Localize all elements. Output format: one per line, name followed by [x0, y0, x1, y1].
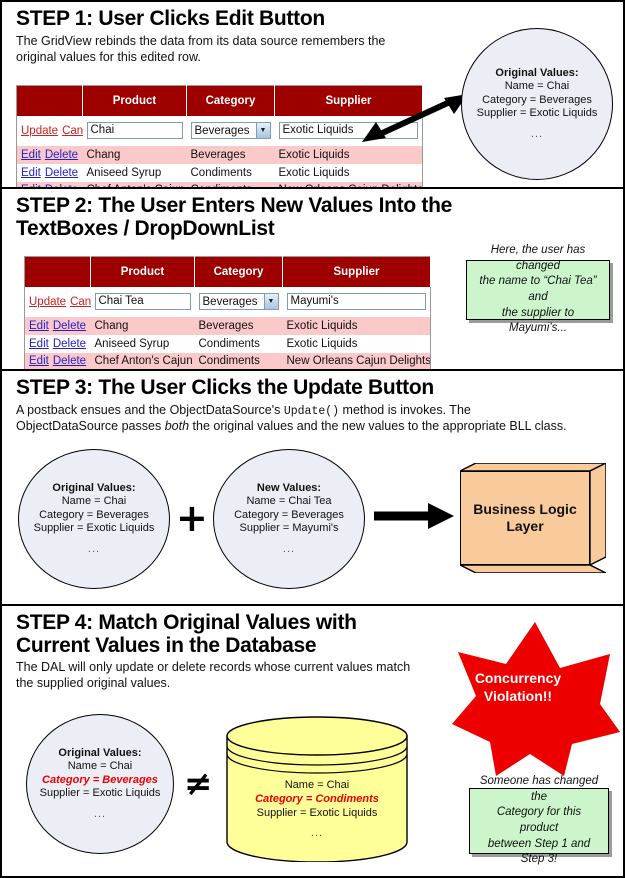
edit-row-commands: UpdateCancel [25, 287, 91, 317]
database-values-text: Name = Chai Category = Condiments Suppli… [232, 779, 402, 841]
star-line-2: Violation!! [484, 688, 552, 704]
step-3-section: STEP 3: The User Clicks the Update Butto… [2, 371, 623, 606]
table-row: EditDelete Chef Anton's Cajun Condiments… [17, 182, 423, 190]
step-4-callout-line-2: Category for this product [497, 806, 581, 834]
row-commands: EditDelete [17, 146, 83, 164]
original-values-ellipsis: ... [34, 543, 155, 556]
original-values-category: Category = Beverages [39, 509, 149, 521]
bidirectional-arrow-icon [360, 90, 470, 146]
row-category: Condiments [187, 164, 275, 182]
business-logic-layer-box: Business LogicLayer [460, 463, 610, 579]
original-values-heading: Original Values: [495, 67, 578, 79]
original-values-supplier: Supplier = Exotic Liquids [34, 522, 155, 534]
category-dropdownlist-value: Beverages [195, 125, 250, 137]
cancel-link[interactable]: Cancel [70, 296, 90, 308]
row-category: Beverages [195, 317, 283, 335]
original-values-name: Name = Chai [62, 495, 127, 507]
original-values-heading: Original Values: [52, 482, 135, 494]
row-product: Aniseed Syrup [83, 164, 187, 182]
diagram-page: STEP 1: User Clicks Edit Button The Grid… [0, 0, 625, 878]
delete-link[interactable]: Delete [45, 149, 78, 161]
step-4-desc-line-1: The DAL will only update or delete recor… [16, 660, 410, 674]
table-row: EditDelete Chef Anton's Cajun Condiments… [25, 353, 431, 371]
product-textbox[interactable]: Chai Tea [95, 293, 191, 310]
row-commands: EditDelete [17, 182, 83, 190]
edit-row-product-cell: Chai [83, 116, 187, 146]
step-2-title-line-2: TextBoxes / DropDownList [16, 217, 274, 240]
step-4-desc-line-2: the supplied original values. [16, 676, 170, 690]
plus-icon: + [176, 499, 208, 537]
row-category: Condiments [195, 353, 283, 371]
bll-line-1: Business Logic [473, 501, 576, 517]
header-product[interactable]: Product [91, 257, 195, 287]
database-supplier: Supplier = Exotic Liquids [257, 807, 378, 819]
original-values-heading: Original Values: [58, 747, 141, 759]
row-commands: EditDelete [25, 335, 91, 353]
step-4-title-line-1: STEP 4: Match Original Values with [16, 611, 357, 634]
step-2-callout-text: Here, the user has changed the name to “… [467, 243, 609, 336]
bll-line-2: Layer [506, 518, 543, 534]
step-4-callout-text: Someone has changed the Category for thi… [470, 774, 608, 867]
row-category: Condiments [195, 335, 283, 353]
step-3-original-values-text: Original Values: Name = Chai Category = … [34, 482, 155, 556]
concurrency-violation-label: Concurrency Violation!! [448, 670, 588, 705]
edit-row-commands: UpdateCancel [17, 116, 83, 146]
database-name: Name = Chai [285, 779, 350, 791]
database-ellipsis: ... [232, 827, 402, 841]
table-header-row: Product Category Supplier [25, 257, 431, 287]
category-dropdownlist[interactable]: Beverages ▼ [191, 122, 271, 139]
step-3-original-values-oval: Original Values: Name = Chai Category = … [18, 449, 170, 589]
original-values-circle: Original Values: Name = Chai Category = … [461, 28, 613, 180]
step-2-section: STEP 2: The User Enters New Values Into … [2, 189, 623, 371]
original-values-name: Name = Chai [505, 80, 570, 92]
step-3-desc-italic: both [165, 419, 189, 433]
step-1-desc-line-1: The GridView rebinds the data from its d… [16, 34, 385, 48]
step-3-new-values-text: New Values: Name = Chai Tea Category = B… [234, 482, 344, 556]
row-supplier: Exotic Liquids [275, 146, 423, 164]
row-product: Chef Anton's Cajun [83, 182, 187, 190]
row-commands: EditDelete [25, 317, 91, 335]
category-dropdownlist-value: Beverages [203, 296, 258, 308]
step-3-description: A postback ensues and the ObjectDataSour… [2, 402, 612, 435]
row-supplier: Exotic Liquids [283, 335, 431, 353]
header-category[interactable]: Category [187, 86, 275, 116]
step-3-desc-a: A postback ensues and the ObjectDataSour… [16, 403, 284, 417]
row-category: Condiments [187, 182, 275, 190]
edit-link[interactable]: Edit [29, 320, 49, 332]
supplier-textbox[interactable]: Mayumi's [287, 293, 427, 310]
row-supplier: Exotic Liquids [275, 164, 423, 182]
new-values-ellipsis: ... [234, 543, 344, 556]
business-logic-layer-label: Business LogicLayer [473, 501, 576, 536]
step-1-section: STEP 1: User Clicks Edit Button The Grid… [2, 2, 623, 189]
step-4-description: The DAL will only update or delete recor… [2, 659, 432, 692]
original-values-ellipsis: ... [477, 128, 598, 141]
new-values-supplier: Supplier = Mayumi's [239, 522, 338, 534]
gridview-step-2[interactable]: Product Category Supplier UpdateCancel C… [24, 256, 431, 371]
step-4-callout-line-1: Someone has changed the [480, 775, 598, 803]
table-row: EditDelete Aniseed Syrup Condiments Exot… [17, 164, 423, 182]
step-2-callout-box: Here, the user has changed the name to “… [466, 260, 610, 320]
edit-link[interactable]: Edit [29, 338, 49, 350]
category-dropdownlist[interactable]: Beverages ▼ [199, 293, 279, 310]
edit-row-category-cell: Beverages ▼ [187, 116, 275, 146]
row-category: Beverages [187, 146, 275, 164]
table-edit-row: UpdateCancel Chai Tea Beverages ▼ Mayumi… [25, 287, 431, 317]
row-supplier: New Orleans Cajun Delights [275, 182, 423, 190]
step-2-callout-line-2: the name to “Chai Tea” and [479, 275, 596, 303]
row-commands: EditDelete [17, 164, 83, 182]
delete-link[interactable]: Delete [45, 167, 78, 179]
original-values-category: Category = Beverages [482, 94, 592, 106]
delete-link[interactable]: Delete [53, 338, 86, 350]
header-supplier[interactable]: Supplier [283, 257, 431, 287]
row-supplier: New Orleans Cajun Delights [283, 353, 431, 371]
header-product[interactable]: Product [83, 86, 187, 116]
update-link[interactable]: Update [29, 296, 66, 308]
header-category[interactable]: Category [195, 257, 283, 287]
edit-link[interactable]: Edit [21, 149, 41, 161]
edit-row-product-cell: Chai Tea [91, 287, 195, 317]
row-product: Chang [91, 317, 195, 335]
original-values-supplier: Supplier = Exotic Liquids [477, 107, 598, 119]
step-3-desc-c: ObjectDataSource passes [16, 419, 165, 433]
header-command [25, 257, 91, 287]
delete-link[interactable]: Delete [53, 320, 86, 332]
step-2-title-line-1: STEP 2: The User Enters New Values Into … [16, 194, 452, 217]
original-values-name: Name = Chai [68, 760, 133, 772]
new-values-heading: New Values: [257, 482, 321, 494]
step-3-new-values-oval: New Values: Name = Chai Tea Category = B… [213, 449, 365, 589]
star-line-1: Concurrency [475, 670, 561, 686]
update-link[interactable]: Update [21, 125, 58, 137]
row-product: Chang [83, 146, 187, 164]
step-4-title-line-2: Current Values in the Database [16, 634, 316, 657]
step-1-description: The GridView rebinds the data from its d… [2, 33, 442, 66]
original-values-supplier: Supplier = Exotic Liquids [40, 787, 161, 799]
business-logic-layer-face: Business LogicLayer [460, 471, 590, 565]
step-4-original-values-text: Original Values: Name = Chai Category = … [40, 747, 161, 821]
step-1-desc-line-2: original values for this edited row. [16, 50, 201, 64]
row-commands: EditDelete [25, 353, 91, 371]
new-values-category: Category = Beverages [234, 509, 344, 521]
step-3-desc-d: the original values and the new values t… [189, 419, 567, 433]
product-textbox[interactable]: Chai [87, 122, 183, 139]
delete-link[interactable]: Delete [53, 355, 86, 367]
not-equal-icon: ≠ [184, 767, 213, 801]
original-values-text: Original Values: Name = Chai Category = … [477, 67, 598, 141]
edit-row-supplier-cell: Mayumi's [283, 287, 431, 317]
step-2-callout-line-3: the supplier to Mayumi’s... [502, 307, 574, 335]
header-command [17, 86, 83, 116]
step-3-title: STEP 3: The User Clicks the Update Butto… [2, 371, 623, 402]
right-arrow-icon [374, 501, 456, 531]
chevron-down-icon: ▼ [264, 294, 278, 309]
step-4-callout-box: Someone has changed the Category for thi… [469, 788, 609, 854]
row-supplier: Exotic Liquids [283, 317, 431, 335]
original-values-ellipsis: ... [40, 808, 161, 821]
cancel-link[interactable]: Cancel [62, 125, 82, 137]
row-product: Aniseed Syrup [91, 335, 195, 353]
row-product: Chef Anton's Cajun [91, 353, 195, 371]
step-2-callout-line-1: Here, the user has changed [491, 244, 586, 272]
table-row: EditDelete Chang Beverages Exotic Liquid… [25, 317, 431, 335]
edit-link[interactable]: Edit [21, 167, 41, 179]
step-4-original-values-oval: Original Values: Name = Chai Category = … [26, 714, 174, 854]
new-values-name: Name = Chai Tea [246, 495, 331, 507]
step-4-callout-line-3: between Step 1 and Step 3! [488, 838, 590, 866]
step-3-desc-b: method is invokes. The [339, 403, 471, 417]
database-category-current: Category = Condiments [255, 793, 379, 805]
step-3-desc-code: Update() [284, 405, 339, 418]
edit-row-category-cell: Beverages ▼ [195, 287, 283, 317]
table-row: EditDelete Chang Beverages Exotic Liquid… [17, 146, 423, 164]
chevron-down-icon: ▼ [256, 123, 270, 138]
step-2-title: STEP 2: The User Enters New Values Into … [2, 189, 623, 242]
table-row: EditDelete Aniseed Syrup Condiments Exot… [25, 335, 431, 353]
edit-link[interactable]: Edit [29, 355, 49, 367]
original-values-category-mismatch: Category = Beverages [42, 774, 158, 786]
step-4-section: STEP 4: Match Original Values with Curre… [2, 606, 623, 876]
